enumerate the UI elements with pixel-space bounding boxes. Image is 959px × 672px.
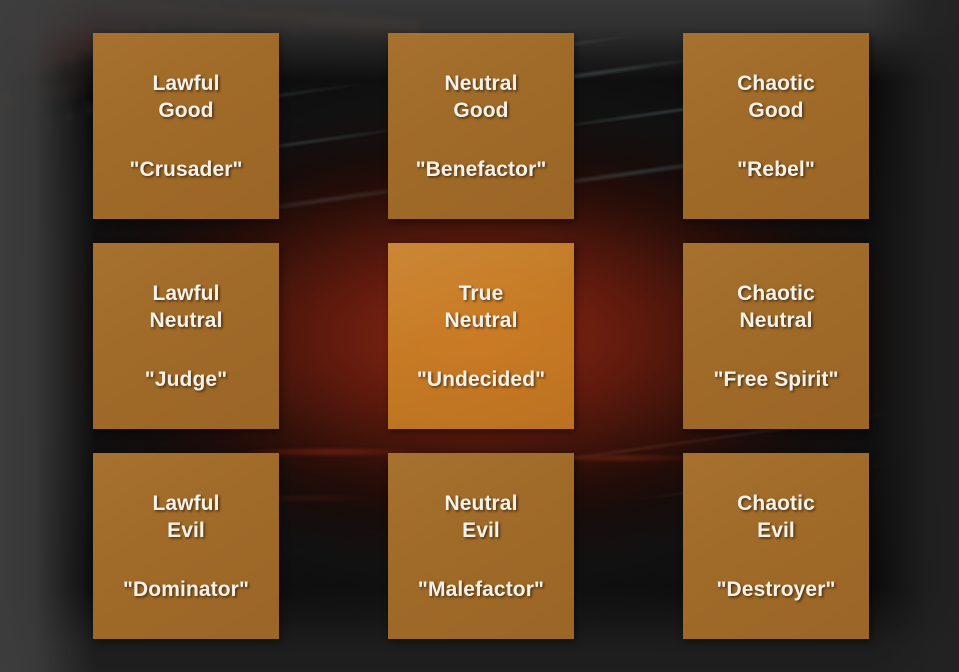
alignment-name: ChaoticEvil <box>737 490 815 545</box>
archetype-label: "Undecided" <box>417 367 545 392</box>
archetype-label: "Rebel" <box>737 157 815 182</box>
alignment-name: LawfulGood <box>152 70 219 125</box>
alignment-card-true-neutral[interactable]: TrueNeutral "Undecided" <box>388 243 574 429</box>
alignment-card-chaotic-evil[interactable]: ChaoticEvil "Destroyer" <box>683 453 869 639</box>
alignment-card-chaotic-good[interactable]: ChaoticGood "Rebel" <box>683 33 869 219</box>
alignment-name: NeutralEvil <box>444 490 517 545</box>
alignment-card-chaotic-neutral[interactable]: ChaoticNeutral "Free Spirit" <box>683 243 869 429</box>
alignment-card-lawful-good[interactable]: LawfulGood "Crusader" <box>93 33 279 219</box>
alignment-name: NeutralGood <box>444 70 517 125</box>
archetype-label: "Crusader" <box>129 157 242 182</box>
archetype-label: "Destroyer" <box>716 577 835 602</box>
alignment-grid: LawfulGood "Crusader" NeutralGood "Benef… <box>93 33 865 639</box>
alignment-card-neutral-evil[interactable]: NeutralEvil "Malefactor" <box>388 453 574 639</box>
archetype-label: "Free Spirit" <box>713 367 838 392</box>
alignment-name: TrueNeutral <box>444 280 517 335</box>
alignment-name: LawfulEvil <box>152 490 219 545</box>
archetype-label: "Benefactor" <box>416 157 547 182</box>
alignment-name: ChaoticNeutral <box>737 280 815 335</box>
alignment-card-neutral-good[interactable]: NeutralGood "Benefactor" <box>388 33 574 219</box>
archetype-label: "Malefactor" <box>418 577 544 602</box>
dragon-eye-slit-pupil <box>0 0 22 89</box>
alignment-card-lawful-neutral[interactable]: LawfulNeutral "Judge" <box>93 243 279 429</box>
alignment-name: LawfulNeutral <box>149 280 222 335</box>
alignment-card-lawful-evil[interactable]: LawfulEvil "Dominator" <box>93 453 279 639</box>
alignment-name: ChaoticGood <box>737 70 815 125</box>
archetype-label: "Dominator" <box>123 577 249 602</box>
archetype-label: "Judge" <box>145 367 227 392</box>
alignment-chart: LawfulGood "Crusader" NeutralGood "Benef… <box>0 0 959 672</box>
